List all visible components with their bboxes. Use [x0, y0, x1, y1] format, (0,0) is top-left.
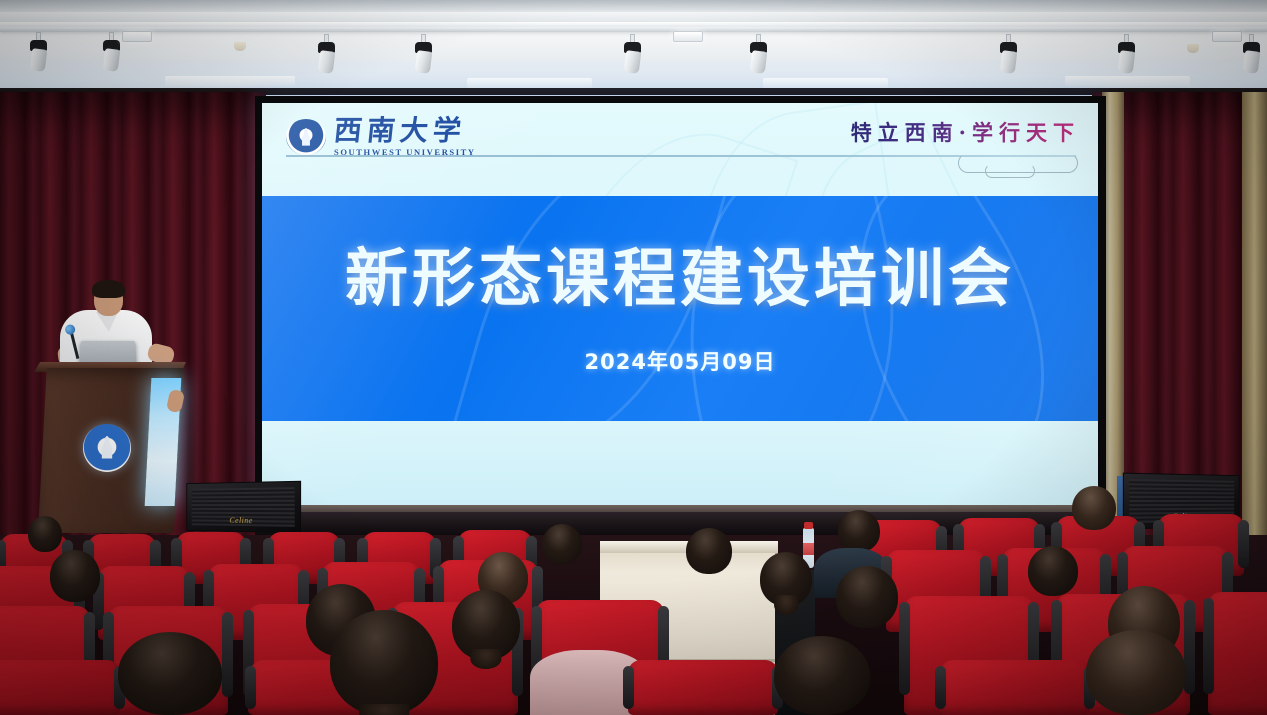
- audience-head: [118, 632, 222, 715]
- auditorium-seat: [940, 660, 1090, 715]
- auditorium-seat: [0, 660, 120, 715]
- audience-head: [836, 566, 898, 628]
- auditorium-seat: [1208, 592, 1267, 715]
- auditorium-seat: [628, 660, 778, 715]
- audience-head: [774, 636, 870, 715]
- auditorium-scene: 西南大学 SOUTHWEST UNIVERSITY 特立西南·学行天下 新形态课…: [0, 0, 1267, 715]
- audience-area: [0, 0, 1267, 715]
- audience-head: [28, 516, 62, 552]
- audience-head: [1086, 630, 1186, 715]
- audience-head: [1072, 486, 1116, 530]
- audience-head: [50, 550, 100, 602]
- audience-head: [1028, 546, 1078, 596]
- audience-head: [542, 524, 582, 564]
- audience-head: [686, 528, 732, 574]
- audience-head: [760, 552, 812, 606]
- audience-head: [330, 610, 438, 715]
- audience-head: [838, 510, 880, 552]
- audience-head: [452, 590, 520, 660]
